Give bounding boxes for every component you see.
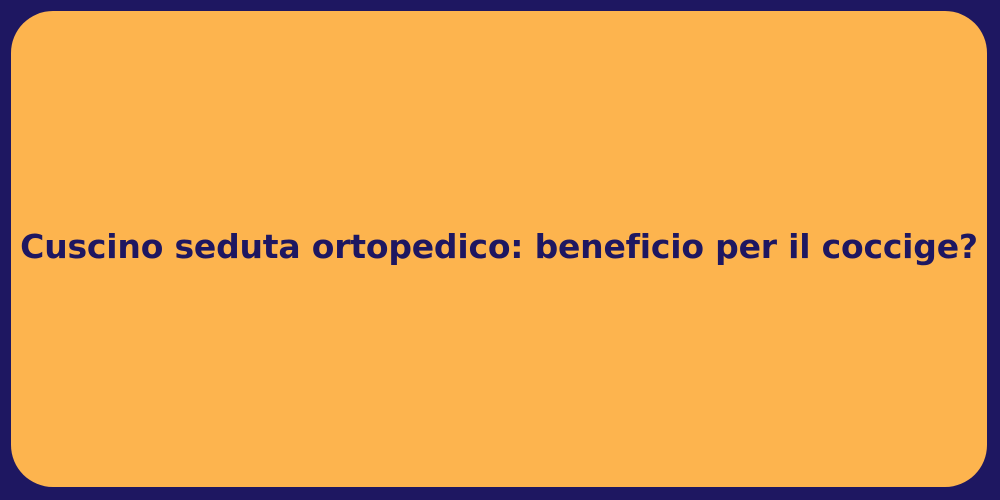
- page-title: Cuscino seduta ortopedico: beneficio per…: [20, 226, 978, 267]
- headline-container: Cuscino seduta ortopedico: beneficio per…: [11, 11, 987, 487]
- banner-card: Cuscino seduta ortopedico: beneficio per…: [11, 11, 987, 487]
- banner-frame: Cuscino seduta ortopedico: beneficio per…: [0, 0, 1000, 500]
